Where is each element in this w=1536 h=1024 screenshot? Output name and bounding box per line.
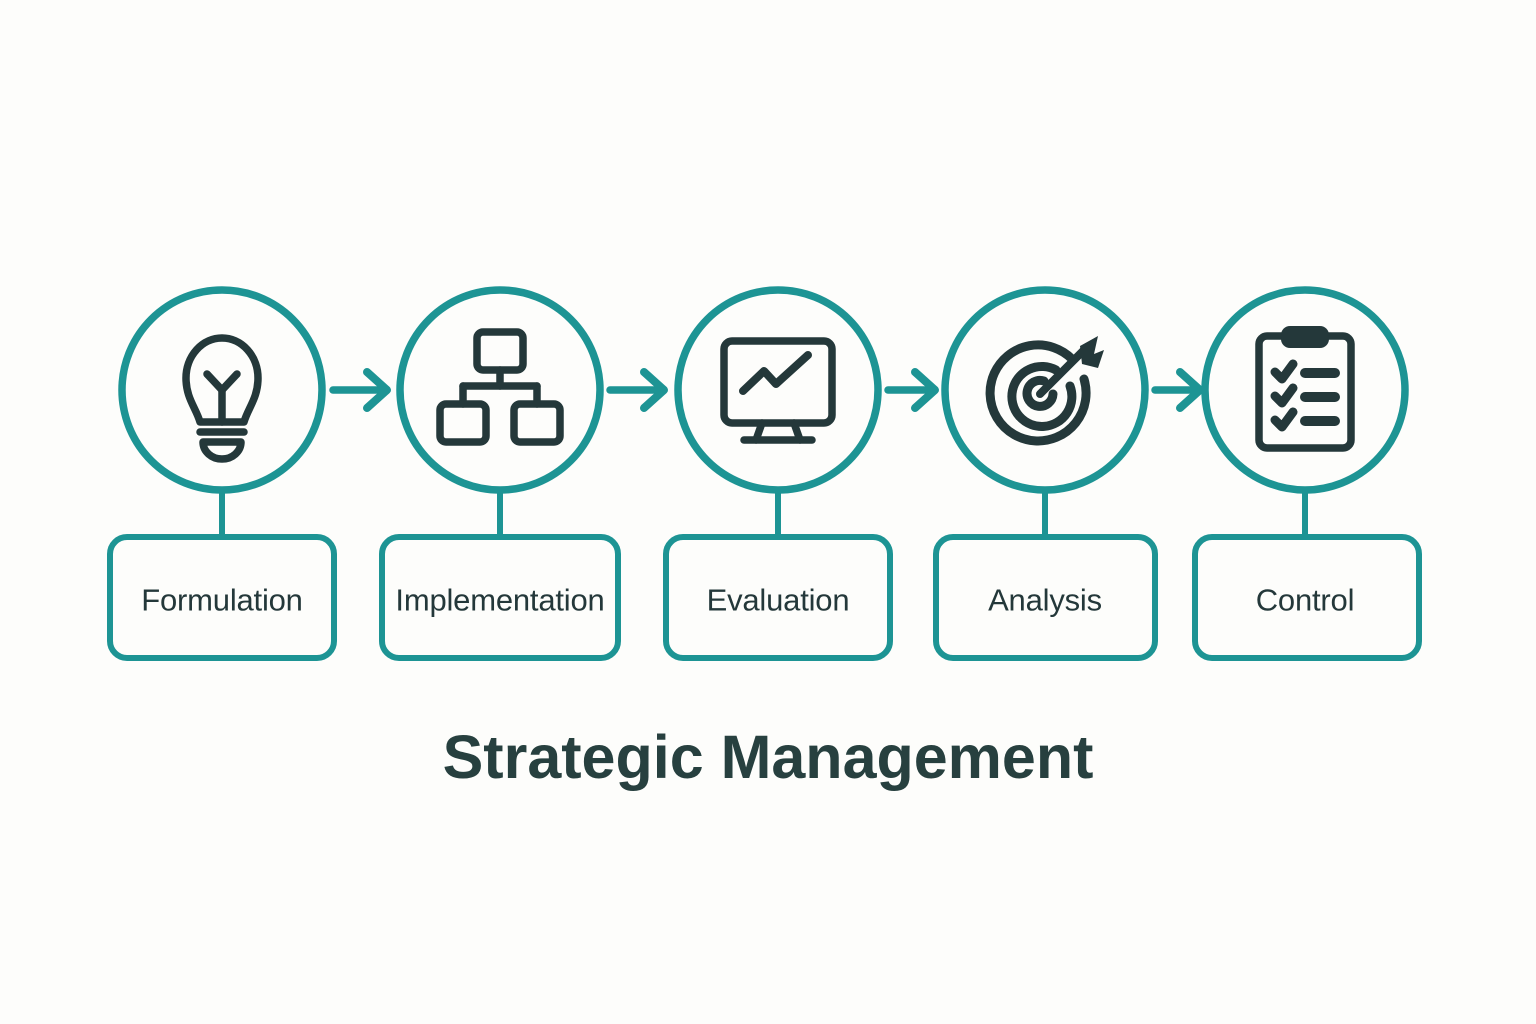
diagram-title: Strategic Management <box>443 723 1094 791</box>
diagram-canvas: Formulation Implementation <box>0 0 1536 1024</box>
stage-5-control[interactable]: Control <box>1195 290 1419 658</box>
stage-5-label: Control <box>1256 583 1355 618</box>
stage-4-label: Analysis <box>988 583 1102 618</box>
stage-3-circle[interactable] <box>678 290 878 490</box>
stage-2-circle[interactable] <box>400 290 600 490</box>
connector-arrow-2-3 <box>610 372 664 408</box>
stage-2-label: Implementation <box>395 583 604 618</box>
stage-4-analysis[interactable]: Analysis <box>936 290 1155 658</box>
connector-arrow-4-5 <box>1155 372 1200 408</box>
stage-1-formulation[interactable]: Formulation <box>110 290 334 658</box>
stage-3-evaluation[interactable]: Evaluation <box>666 290 890 658</box>
stage-2-implementation[interactable]: Implementation <box>382 290 618 658</box>
stage-5-circle[interactable] <box>1205 290 1405 490</box>
stage-1-label: Formulation <box>141 583 302 618</box>
connector-arrow-1-2 <box>333 372 387 408</box>
connector-arrow-3-4 <box>888 372 935 408</box>
strategic-management-flow-diagram: Formulation Implementation <box>0 0 1536 1024</box>
stage-3-label: Evaluation <box>707 583 850 618</box>
